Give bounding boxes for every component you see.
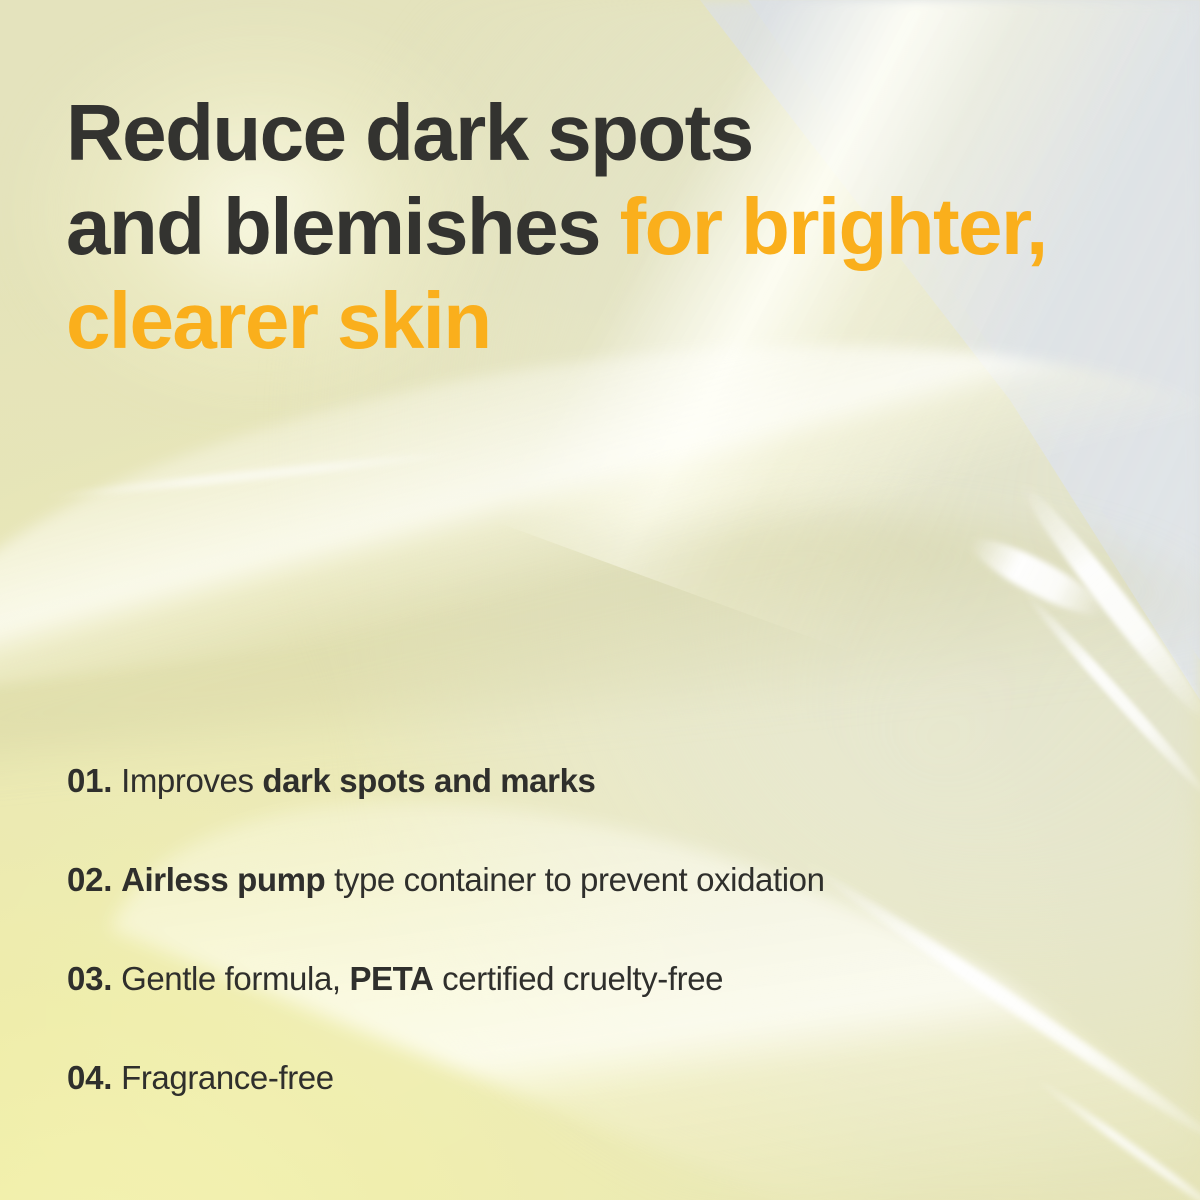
feature-text: Airless pump type container to prevent o… (121, 861, 825, 898)
feature-text-plain: Improves (121, 762, 262, 799)
list-item: 03. Gentle formula, PETA certified cruel… (67, 958, 1157, 1000)
feature-number: 01. (67, 762, 112, 799)
feature-text-plain: type container to prevent oxidation (325, 861, 824, 898)
feature-text-plain: Fragrance-free (121, 1059, 334, 1096)
feature-list: 01. Improves dark spots and marks02. Air… (67, 760, 1157, 1099)
headline-line-3-accent: clearer skin (66, 276, 491, 365)
feature-text-plain: certified cruelty-free (433, 960, 723, 997)
headline-line-2-plain: and blemishes (66, 182, 620, 271)
page-title: Reduce dark spots and blemishes for brig… (66, 86, 1156, 368)
list-item: 01. Improves dark spots and marks (67, 760, 1157, 802)
product-feature-poster: Reduce dark spots and blemishes for brig… (0, 0, 1200, 1200)
feature-number: 04. (67, 1059, 112, 1096)
feature-number: 02. (67, 861, 112, 898)
headline-line-1: Reduce dark spots (66, 88, 753, 177)
feature-text-plain: Gentle formula, (121, 960, 349, 997)
list-item: 04. Fragrance-free (67, 1057, 1157, 1099)
poster-content: Reduce dark spots and blemishes for brig… (0, 0, 1200, 1200)
feature-text-emphasis: dark spots and marks (262, 762, 595, 799)
feature-text: Fragrance-free (121, 1059, 334, 1096)
feature-text: Improves dark spots and marks (121, 762, 595, 799)
feature-number: 03. (67, 960, 112, 997)
list-item: 02. Airless pump type container to preve… (67, 859, 1157, 901)
feature-text-emphasis: PETA (349, 960, 433, 997)
headline-line-2-accent: for brighter, (620, 182, 1047, 271)
feature-text-emphasis: Airless pump (121, 861, 325, 898)
feature-text: Gentle formula, PETA certified cruelty-f… (121, 960, 723, 997)
